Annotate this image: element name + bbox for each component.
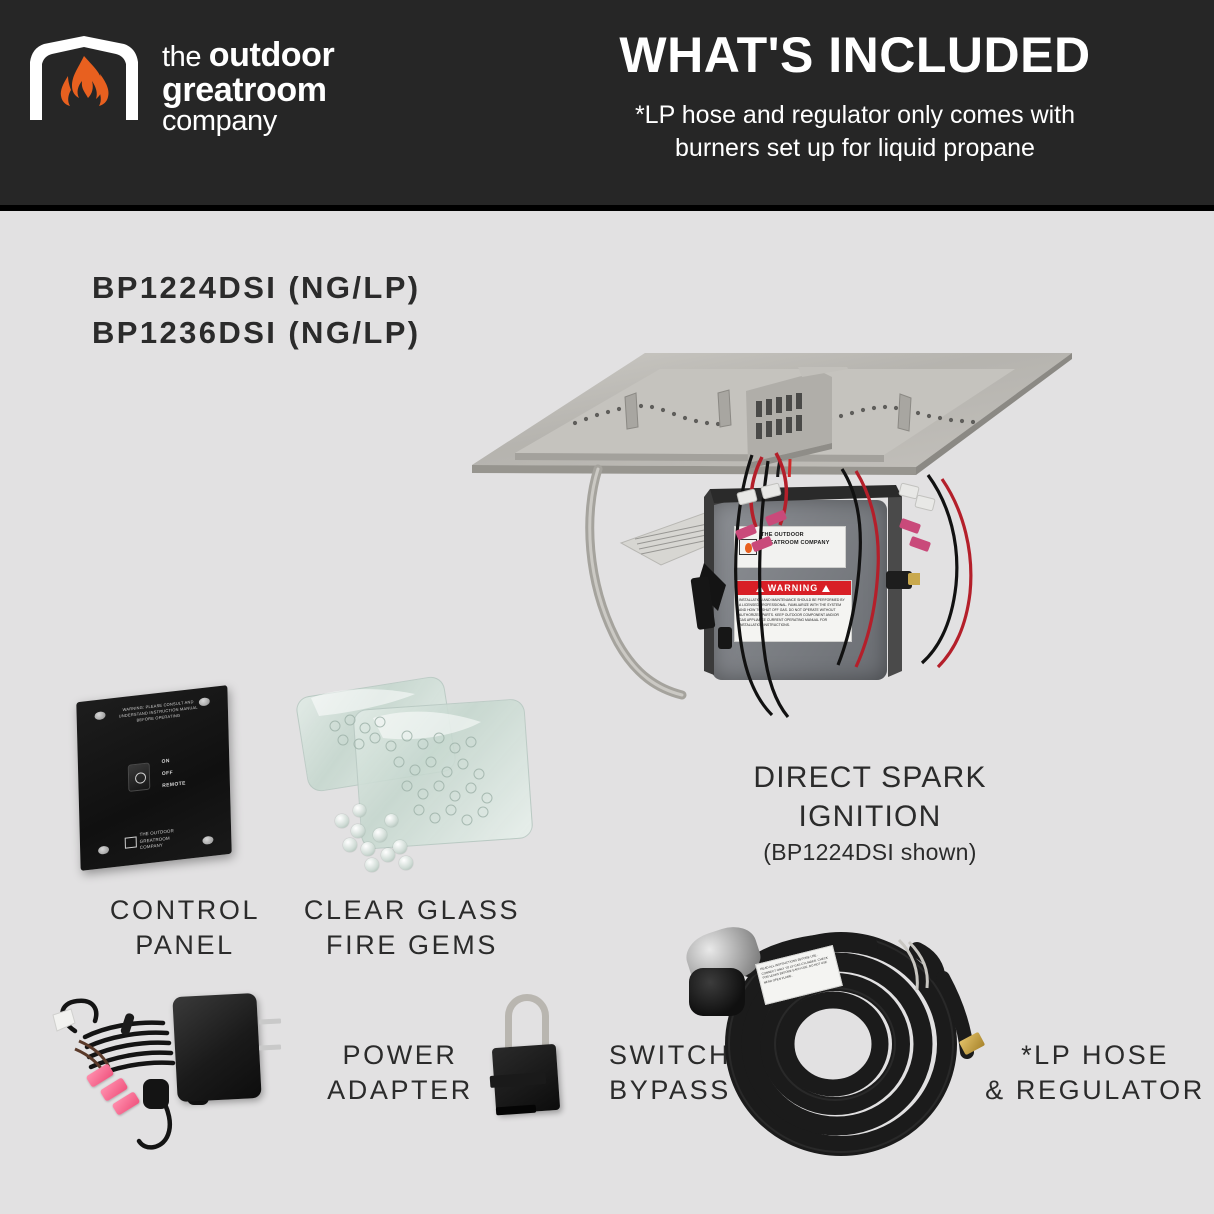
switch-label-on: ON [161, 758, 169, 765]
infographic-page: the outdoor greatroom company WHAT'S INC… [0, 0, 1214, 1214]
switch-label-remote: REMOTE [162, 780, 186, 789]
power-adapter-photo [35, 975, 315, 1160]
header-subtitle: *LP hose and regulator only comes with b… [505, 99, 1205, 166]
logo-the: the [162, 41, 209, 73]
panel-logo-icon [125, 836, 137, 848]
switch-label-off: OFF [162, 770, 173, 777]
burner-caption-line-2: IGNITION [700, 797, 1040, 836]
lp-coupling-knob [689, 968, 745, 1016]
fire-gems-photo [295, 682, 545, 877]
control-panel-photo: WARNING: PLEASE CONSULT AND UNDERSTAND I… [60, 688, 260, 868]
lp-hose-caption: *LP HOSE & REGULATOR [975, 1038, 1214, 1108]
lp-hose-photo: READ ALL INSTRUCTIONS BEFORE USE. CONNEC… [685, 912, 995, 1162]
panel-screw [98, 846, 109, 855]
cord-strain-relief [143, 1079, 169, 1109]
loose-gem [365, 858, 379, 872]
loose-gem [343, 838, 357, 852]
cable-clip [718, 627, 732, 649]
fire-gems-caption: CLEAR GLASS FIRE GEMS [272, 893, 552, 963]
fire-gems-caption-line-1: CLEAR GLASS [272, 893, 552, 928]
brand-wordmark: the outdoor greatroom company [162, 32, 334, 137]
loose-gem [385, 814, 398, 827]
header-subtitle-line-2: burners set up for liquid propane [505, 132, 1205, 165]
control-panel-plate: WARNING: PLEASE CONSULT AND UNDERSTAND I… [76, 685, 231, 871]
control-panel-warning-text: WARNING: PLEASE CONSULT AND UNDERSTAND I… [116, 698, 200, 726]
loose-gem [351, 824, 365, 838]
burner-caption-note: (BP1224DSI shown) [700, 838, 1040, 868]
brand-logo: the outdoor greatroom company [22, 32, 334, 137]
header-divider [0, 205, 1214, 211]
loose-gem [399, 856, 413, 870]
control-panel-brand: THE OUTDOOR GREATROOM COMPANY [124, 827, 188, 856]
panel-screw [202, 836, 213, 845]
header-bar: the outdoor greatroom company WHAT'S INC… [0, 0, 1214, 205]
model-number-list: BP1224DSI (NG/LP) BP1236DSI (NG/LP) [92, 266, 421, 356]
header-text-block: WHAT'S INCLUDED *LP hose and regulator o… [505, 28, 1205, 166]
burner-caption-line-1: DIRECT SPARK [700, 758, 1040, 797]
loose-gem [335, 814, 349, 828]
power-rocker-switch[interactable] [128, 762, 151, 792]
logo-greatroom: greatroom [162, 73, 334, 108]
header-subtitle-line-1: *LP hose and regulator only comes with [505, 99, 1205, 132]
lp-hose-caption-line-1: *LP HOSE [975, 1038, 1214, 1073]
logo-line-1: the outdoor [162, 38, 334, 73]
model-number: BP1224DSI (NG/LP) [92, 266, 421, 311]
panel-screw [199, 697, 210, 706]
loose-gem [353, 804, 366, 817]
logo-company: company [162, 107, 334, 137]
burner-caption: DIRECT SPARK IGNITION (BP1224DSI shown) [700, 758, 1040, 868]
panel-brand-text: THE OUTDOOR GREATROOM COMPANY [139, 828, 174, 850]
power-adapter-brick [172, 993, 261, 1102]
wiring-harness [610, 435, 1030, 725]
loose-gem [373, 828, 387, 842]
lp-hose-caption-line-2: & REGULATOR [975, 1073, 1214, 1108]
burner-photo: THE OUTDOOR GREATROOM COMPANY WARNING IN… [360, 345, 1080, 725]
loose-gem [393, 840, 407, 854]
panel-screw [94, 711, 105, 720]
fire-gems-caption-line-2: FIRE GEMS [272, 928, 552, 963]
gem-bag-detail [295, 682, 545, 877]
pergola-flame-logo-icon [22, 32, 146, 124]
page-title: WHAT'S INCLUDED [505, 28, 1205, 83]
logo-outdoor: outdoor [209, 36, 335, 74]
loose-gem [361, 842, 375, 856]
